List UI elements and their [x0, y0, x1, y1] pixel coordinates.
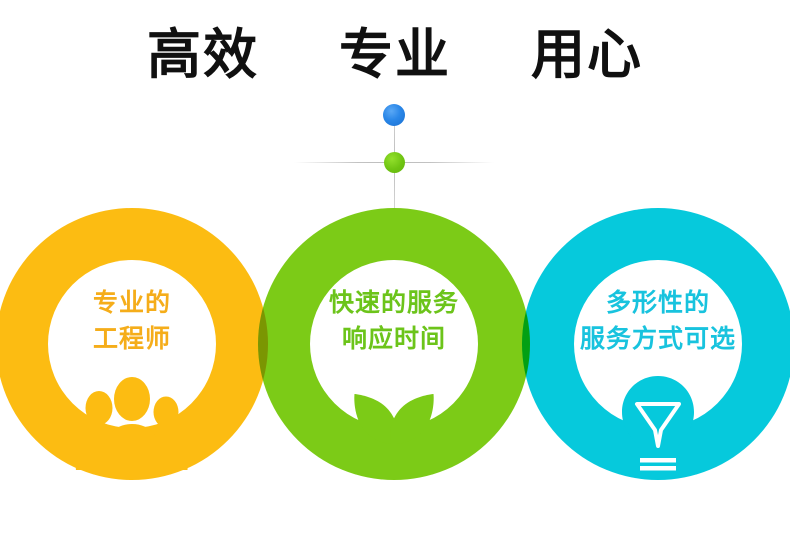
card-response-time-label: 快速的服务 响应时间	[272, 286, 516, 357]
infographic-canvas: 高效 专业 用心 专业的 工程师	[0, 0, 790, 557]
card-service-options-label: 多形性的 服务方式可选	[536, 286, 780, 357]
card-response-time[interactable]: 快速的服务 响应时间	[258, 208, 530, 480]
card-engineers[interactable]: 专业的 工程师	[0, 208, 268, 480]
card-engineers-line-1: 专业的	[10, 286, 254, 322]
card-engineers-line-2: 工程师	[10, 322, 254, 358]
card-service-options[interactable]: 多形性的 服务方式可选	[522, 208, 790, 480]
card-service-options-line-1: 多形性的	[536, 286, 780, 322]
card-response-time-line-2: 响应时间	[272, 322, 516, 358]
card-service-options-line-2: 服务方式可选	[536, 322, 780, 358]
card-engineers-label: 专业的 工程师	[10, 286, 254, 357]
card-response-time-line-1: 快速的服务	[272, 286, 516, 322]
lightbulb-icon	[593, 372, 723, 476]
people-icon	[67, 374, 197, 470]
sprout-icon	[329, 374, 459, 470]
